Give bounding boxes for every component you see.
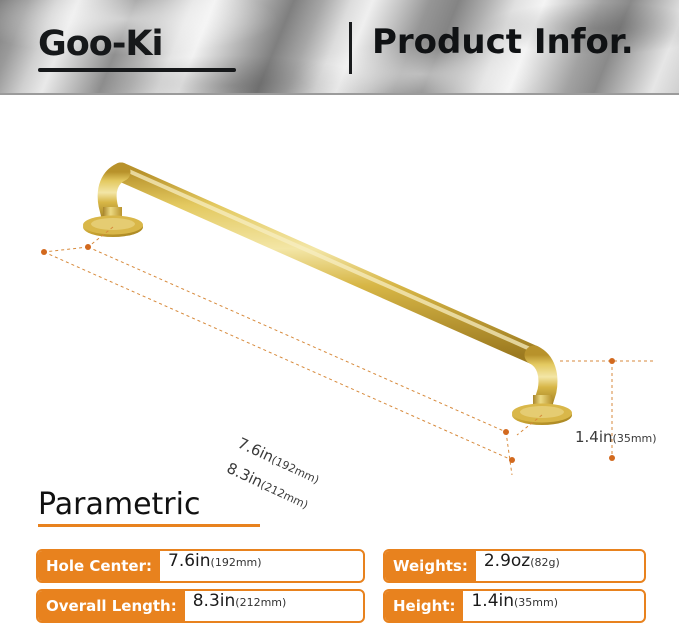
spec-value-overall-length-sub: (212mm): [235, 596, 286, 609]
spec-key-height: Height:: [385, 591, 463, 621]
header-divider: [349, 22, 352, 74]
product-image-area: 7.6in(192mm) 8.3in(212mm) 1.4in(35mm): [0, 95, 679, 475]
spec-value-overall-length: 8.3in(212mm): [185, 591, 363, 621]
spec-value-height-sub: (35mm): [514, 596, 558, 609]
dimension-overall-length-metric: (212mm): [258, 478, 310, 511]
handle-left-mount: [83, 207, 143, 237]
spec-value-hole-center: 7.6in(192mm): [160, 551, 363, 581]
spec-value-weights-sub: (82g): [530, 556, 560, 569]
spec-row-hole-center: Hole Center: 7.6in(192mm): [36, 549, 365, 583]
header-bottom-line: [0, 93, 679, 95]
cabinet-handle-illustration: [0, 95, 679, 475]
brand-underline: [38, 68, 236, 72]
page-title: Product Infor.: [372, 22, 634, 62]
spec-value-height: 1.4in(35mm): [463, 591, 644, 621]
spec-key-weights: Weights:: [385, 551, 476, 581]
dimension-height-metric: (35mm): [613, 432, 657, 445]
parametric-heading: Parametric: [38, 487, 200, 522]
spec-row-height: Height: 1.4in(35mm): [383, 589, 646, 623]
spec-row-overall-length: Overall Length: 8.3in(212mm): [36, 589, 365, 623]
spec-key-hole-center: Hole Center:: [38, 551, 160, 581]
spec-value-weights: 2.9oz(82g): [476, 551, 644, 581]
spec-value-overall-length-main: 8.3in: [193, 591, 236, 611]
spec-value-weights-main: 2.9oz: [484, 551, 530, 571]
spec-key-overall-length: Overall Length:: [38, 591, 185, 621]
spec-row-weights: Weights: 2.9oz(82g): [383, 549, 646, 583]
spec-value-hole-center-sub: (192mm): [211, 556, 262, 569]
brand-logo: Goo-Ki: [38, 24, 162, 64]
header-banner: Goo-Ki Product Infor.: [0, 0, 679, 95]
handle-bar: [107, 169, 548, 407]
dimension-label-height: 1.4in(35mm): [575, 427, 657, 446]
dimension-height-value: 1.4in: [575, 428, 613, 446]
handle-right-mount: [512, 395, 572, 425]
spec-value-height-main: 1.4in: [471, 591, 514, 611]
spec-value-hole-center-main: 7.6in: [168, 551, 211, 571]
parametric-heading-underline: [38, 524, 260, 527]
